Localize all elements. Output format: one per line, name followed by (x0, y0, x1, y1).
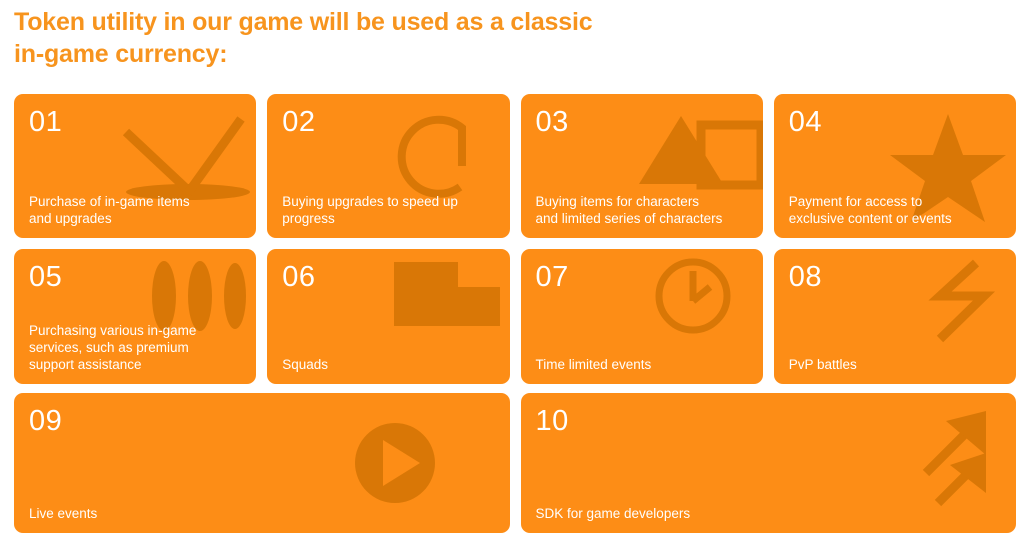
card-07[interactable]: 07 Time limited events (521, 249, 763, 384)
cards-row-1: 01 Purchase of in-game items and upgrade… (14, 94, 1016, 238)
card-01[interactable]: 01 Purchase of in-game items and upgrade… (14, 94, 256, 238)
card-number: 07 (536, 261, 569, 293)
card-number: 01 (29, 106, 62, 138)
card-label: Buying upgrades to speed up progress (282, 193, 497, 227)
card-label: Buying items for characters and limited … (536, 193, 751, 227)
card-02[interactable]: 02 Buying upgrades to speed up progress (267, 94, 509, 238)
card-04[interactable]: 04 Payment for access to exclusive conte… (774, 94, 1016, 238)
card-label: Live events (29, 505, 498, 522)
card-label: PvP battles (789, 356, 1004, 373)
card-number: 09 (29, 405, 62, 437)
card-label: Squads (282, 356, 497, 373)
card-label: Time limited events (536, 356, 751, 373)
card-label: Purchase of in-game items and upgrades (29, 193, 244, 227)
card-label: Payment for access to exclusive content … (789, 193, 1004, 227)
card-label: SDK for game developers (536, 505, 1005, 522)
card-10[interactable]: 10 SDK for game developers (521, 393, 1017, 533)
card-number: 05 (29, 261, 62, 293)
card-number: 08 (789, 261, 822, 293)
card-number: 04 (789, 106, 822, 138)
card-05[interactable]: 05 Purchasing various in-game services, … (14, 249, 256, 384)
page-title: Token utility in our game will be used a… (14, 6, 714, 70)
card-09[interactable]: 09 Live events (14, 393, 510, 533)
card-number: 03 (536, 106, 569, 138)
card-number: 06 (282, 261, 315, 293)
card-label: Purchasing various in-game services, suc… (29, 322, 244, 373)
cards-row-3: 09 Live events 10 (14, 393, 1016, 533)
card-number: 02 (282, 106, 315, 138)
card-number: 10 (536, 405, 569, 437)
cards-grid: 01 Purchase of in-game items and upgrade… (14, 94, 1016, 533)
card-06[interactable]: 06 Squads (267, 249, 509, 384)
card-03[interactable]: 03 Buying items for characters and limit… (521, 94, 763, 238)
card-08[interactable]: 08 PvP battles (774, 249, 1016, 384)
cards-row-2: 05 Purchasing various in-game services, … (14, 249, 1016, 384)
